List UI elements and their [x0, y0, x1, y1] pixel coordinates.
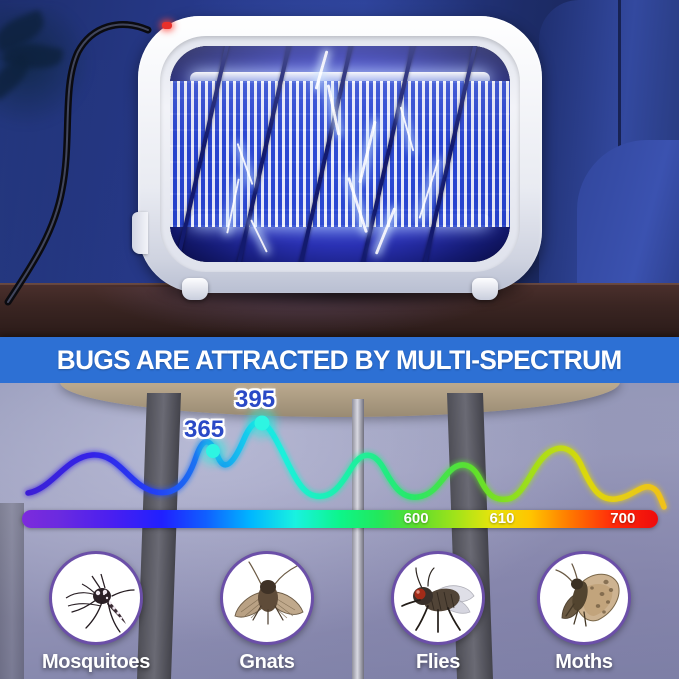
spectrum-tick-600: 600: [404, 510, 429, 528]
bug-label: Mosquitoes: [41, 651, 151, 674]
moth-icon: [537, 551, 631, 645]
spectrum-chart-scene: 365 395 600 610 700: [0, 383, 679, 679]
spectrum-tick-610: 610: [489, 510, 514, 528]
marker-395-dot: [255, 416, 270, 431]
device-foot: [472, 278, 498, 300]
bug-cell-moths[interactable]: Moths: [529, 551, 639, 674]
fly-icon: [391, 551, 485, 645]
bug-label: Gnats: [212, 651, 322, 674]
mosquito-icon: [49, 551, 143, 645]
wavelength-label-395: 395: [235, 386, 275, 414]
bug-cell-mosquitoes[interactable]: Mosquitoes: [41, 551, 151, 674]
bug-cell-flies[interactable]: Flies: [383, 551, 493, 674]
gnat-icon: [220, 551, 314, 645]
headline-text: BUGS ARE ATTRACTED BY MULTI-SPECTRUM: [57, 345, 622, 376]
power-indicator-led: [162, 22, 172, 29]
bug-zapper-device: [138, 16, 542, 306]
device-foot: [182, 278, 208, 300]
bug-label: Moths: [529, 651, 639, 674]
marker-365-dot: [206, 444, 220, 458]
product-photo-scene: [0, 0, 679, 337]
uv-grid-window: [170, 46, 510, 262]
bug-label: Flies: [383, 651, 493, 674]
side-vent: [132, 212, 148, 254]
visible-spectrum-bar: 600 610 700: [22, 510, 658, 528]
spectrum-tick-700: 700: [610, 510, 635, 528]
product-infographic: BUGS ARE ATTRACTED BY MULTI-SPECTRUM: [0, 0, 679, 679]
headline-banner: BUGS ARE ATTRACTED BY MULTI-SPECTRUM: [0, 337, 679, 383]
bug-cell-gnats[interactable]: Gnats: [212, 551, 322, 674]
wavelength-label-365: 365: [184, 416, 224, 444]
